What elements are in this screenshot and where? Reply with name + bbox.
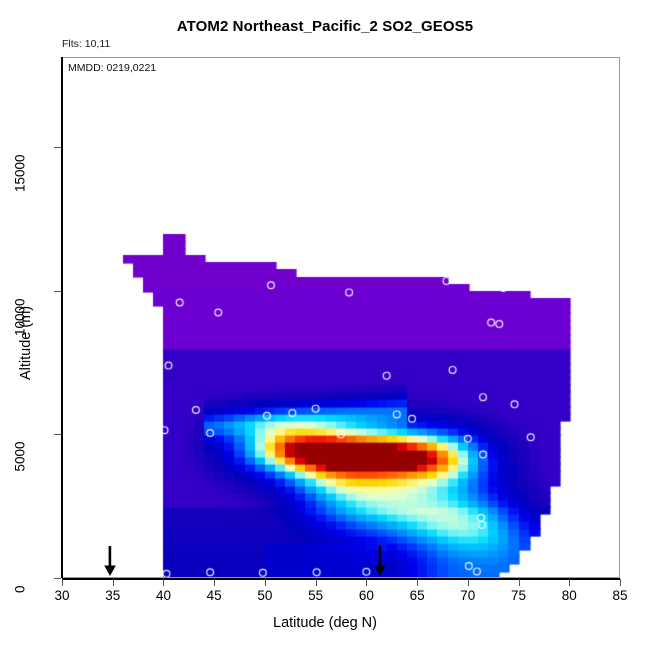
x-tick-label: 85 (597, 588, 643, 603)
x-tick-label: 80 (546, 588, 592, 603)
x-tick-label: 45 (191, 588, 237, 603)
x-tick-label: 30 (39, 588, 85, 603)
y-tick-label: 5000 (13, 442, 28, 486)
y-tick (54, 578, 61, 579)
figure-root: ATOM2 Northeast_Pacific_2 SO2_GEOS5 Flts… (0, 0, 650, 650)
x-tick (366, 579, 367, 586)
x-tick (468, 579, 469, 586)
chart-title: ATOM2 Northeast_Pacific_2 SO2_GEOS5 (0, 18, 650, 35)
down-arrow-icon (103, 546, 117, 576)
x-tick (265, 579, 266, 586)
x-tick-label: 35 (90, 588, 136, 603)
y-tick (54, 434, 61, 435)
x-tick-label: 55 (293, 588, 339, 603)
x-axis-line (62, 578, 620, 580)
flights-annotation: Flts: 10,11 (62, 38, 110, 50)
y-axis-label: Altitude (m) (18, 306, 34, 380)
x-tick-label: 60 (343, 588, 389, 603)
x-tick (163, 579, 164, 586)
x-tick (113, 579, 114, 586)
y-axis-line (61, 57, 63, 578)
x-tick-label: 75 (496, 588, 542, 603)
x-tick (62, 579, 63, 586)
x-tick (417, 579, 418, 586)
x-tick (620, 579, 621, 586)
y-tick (54, 147, 61, 148)
x-tick (569, 579, 570, 586)
x-axis-label: Latitude (deg N) (0, 615, 650, 631)
x-tick-label: 65 (394, 588, 440, 603)
y-tick-label: 15000 (13, 155, 28, 199)
x-tick (316, 579, 317, 586)
mmdd-annotation: MMDD: 0219,0221 (68, 62, 156, 74)
down-arrow-icon (373, 546, 387, 576)
x-tick (214, 579, 215, 586)
heatmap-canvas (63, 58, 619, 577)
x-tick-label: 40 (140, 588, 186, 603)
x-tick (519, 579, 520, 586)
x-tick-label: 70 (445, 588, 491, 603)
y-tick (54, 291, 61, 292)
x-tick-label: 50 (242, 588, 288, 603)
